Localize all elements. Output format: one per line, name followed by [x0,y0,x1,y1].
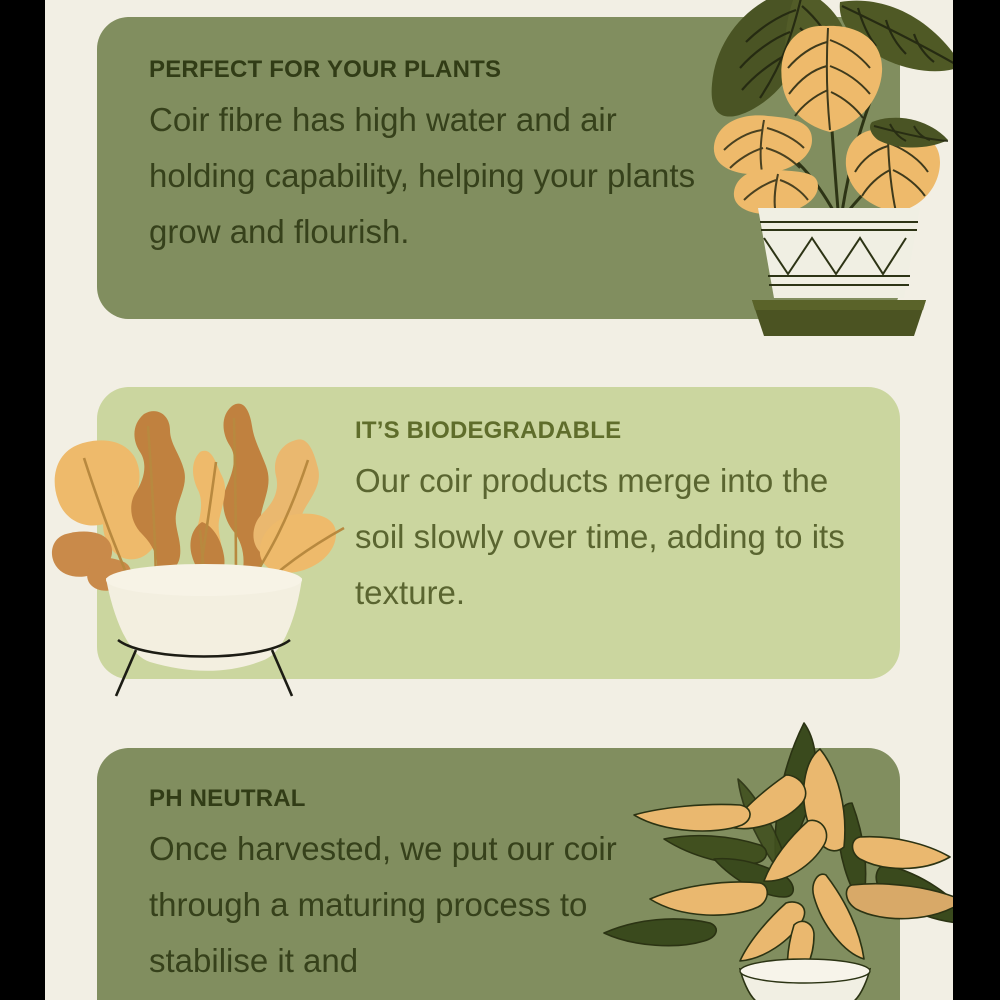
infographic-canvas: PERFECT FOR YOUR PLANTS Coir fibre has h… [45,0,953,1000]
card-1-title: PERFECT FOR YOUR PLANTS [149,57,724,82]
card-2-text: Our coir products merge into the soil sl… [355,453,875,621]
card-3-body: PH NEUTRAL Once harvested, we put our co… [149,786,689,989]
card-1-text: Coir fibre has high water and air holdin… [149,92,724,260]
page-frame: PERFECT FOR YOUR PLANTS Coir fibre has h… [0,0,1000,1000]
card-2-title: IT’S BIODEGRADABLE [355,418,875,443]
card-3-text: Once harvested, we put our coir through … [149,821,689,989]
card-3-title: PH NEUTRAL [149,786,689,811]
card-2-body: IT’S BIODEGRADABLE Our coir products mer… [355,418,875,621]
card-1-body: PERFECT FOR YOUR PLANTS Coir fibre has h… [149,57,724,260]
